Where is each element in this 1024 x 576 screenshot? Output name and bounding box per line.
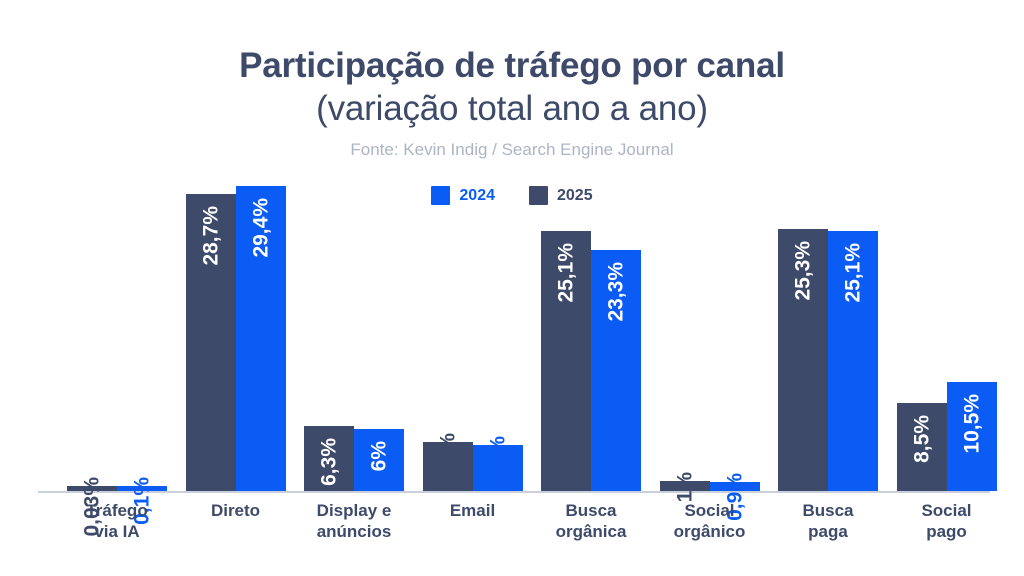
bar-group-bars: 6,3%6% <box>294 0 414 491</box>
bar[interactable]: 25,1% <box>541 231 591 491</box>
bar-group-bars: 28,7%29,4% <box>176 0 296 491</box>
x-axis-category-label: Direto <box>176 500 296 521</box>
x-axis-category-label-line: Tráfego <box>57 500 177 521</box>
x-axis-category-label: Tráfegovia IA <box>57 500 177 542</box>
bar-value-label: 25,1% <box>556 243 577 303</box>
x-axis-category-label-line: Social <box>650 500 770 521</box>
bar-value-label: 28,7% <box>200 206 221 266</box>
x-axis-category-label-line: paga <box>768 521 888 542</box>
bar-group: 0,03%0,1%Tráfegovia IA <box>57 0 177 576</box>
bar-group: 28,7%29,4%Direto <box>176 0 296 576</box>
bar-value-label: 6% <box>369 441 390 471</box>
bar-group: 1%0,9%Socialorgânico <box>650 0 770 576</box>
bar[interactable]: 28,7% <box>186 194 236 491</box>
bar-value-label: 8,5% <box>911 415 932 463</box>
x-axis-category-label-line: Social <box>887 500 1007 521</box>
x-axis-category-label: Display eanúncios <box>294 500 414 542</box>
bar-group-bars: 4,7%4,4% <box>413 0 533 491</box>
bar[interactable]: 0,1% <box>117 486 167 491</box>
bar-value-label: 25,3% <box>793 241 814 301</box>
bar[interactable]: 6,3% <box>304 426 354 491</box>
x-axis-category-label-line: pago <box>887 521 1007 542</box>
bar[interactable]: 4,7% <box>423 442 473 491</box>
bar[interactable]: 10,5% <box>947 382 997 491</box>
bar-group: 25,3%25,1%Buscapaga <box>768 0 888 576</box>
bar[interactable]: 1% <box>660 481 710 491</box>
bar-value-label: 23,3% <box>606 262 627 322</box>
bar-group: 25,1%23,3%Buscaorgânica <box>531 0 651 576</box>
x-axis-category-label-line: orgânico <box>650 521 770 542</box>
x-axis-category-label: Buscapaga <box>768 500 888 542</box>
bar[interactable]: 4,4% <box>473 445 523 491</box>
chart-page: Participação de tráfego por canal (varia… <box>0 0 1024 576</box>
bar[interactable]: 25,3% <box>778 229 828 491</box>
bar-value-label: 10,5% <box>961 394 982 454</box>
bar-group-bars: 25,3%25,1% <box>768 0 888 491</box>
bar[interactable]: 0,9% <box>710 482 760 491</box>
x-axis-category-label: Socialorgânico <box>650 500 770 542</box>
bar-value-label: 4,7% <box>437 433 458 481</box>
x-axis-category-label-line: Direto <box>176 500 296 521</box>
x-axis-category-label-line: anúncios <box>294 521 414 542</box>
x-axis-category-label: Buscaorgânica <box>531 500 651 542</box>
bar-group-bars: 0,03%0,1% <box>57 0 177 491</box>
bar-value-label: 4,4% <box>487 436 508 484</box>
bar[interactable]: 29,4% <box>236 186 286 491</box>
bar[interactable]: 0,03% <box>67 486 117 491</box>
bar-chart-plot: 0,03%0,1%Tráfegovia IA28,7%29,4%Direto6,… <box>0 0 1024 576</box>
bar-group-bars: 1%0,9% <box>650 0 770 491</box>
bar-value-label: 6,3% <box>319 438 340 486</box>
x-axis-category-label-line: via IA <box>57 521 177 542</box>
bar[interactable]: 23,3% <box>591 250 641 491</box>
bar-group: 6,3%6%Display eanúncios <box>294 0 414 576</box>
x-axis-category-label-line: Display e <box>294 500 414 521</box>
bar-group: 8,5%10,5%Socialpago <box>887 0 1007 576</box>
x-axis-category-label-line: Email <box>413 500 533 521</box>
bar-group-bars: 25,1%23,3% <box>531 0 651 491</box>
bar-value-label: 1% <box>674 472 695 502</box>
x-axis-category-label: Email <box>413 500 533 521</box>
x-axis-category-label-line: Busca <box>531 500 651 521</box>
bar-value-label: 29,4% <box>250 198 271 258</box>
bar-value-label: 25,1% <box>843 243 864 303</box>
bar-group: 4,7%4,4%Email <box>413 0 533 576</box>
bar[interactable]: 25,1% <box>828 231 878 491</box>
bar-group-bars: 8,5%10,5% <box>887 0 1007 491</box>
x-axis-category-label: Socialpago <box>887 500 1007 542</box>
bar[interactable]: 6% <box>354 429 404 491</box>
x-axis-category-label-line: orgânica <box>531 521 651 542</box>
bar[interactable]: 8,5% <box>897 403 947 491</box>
x-axis-category-label-line: Busca <box>768 500 888 521</box>
